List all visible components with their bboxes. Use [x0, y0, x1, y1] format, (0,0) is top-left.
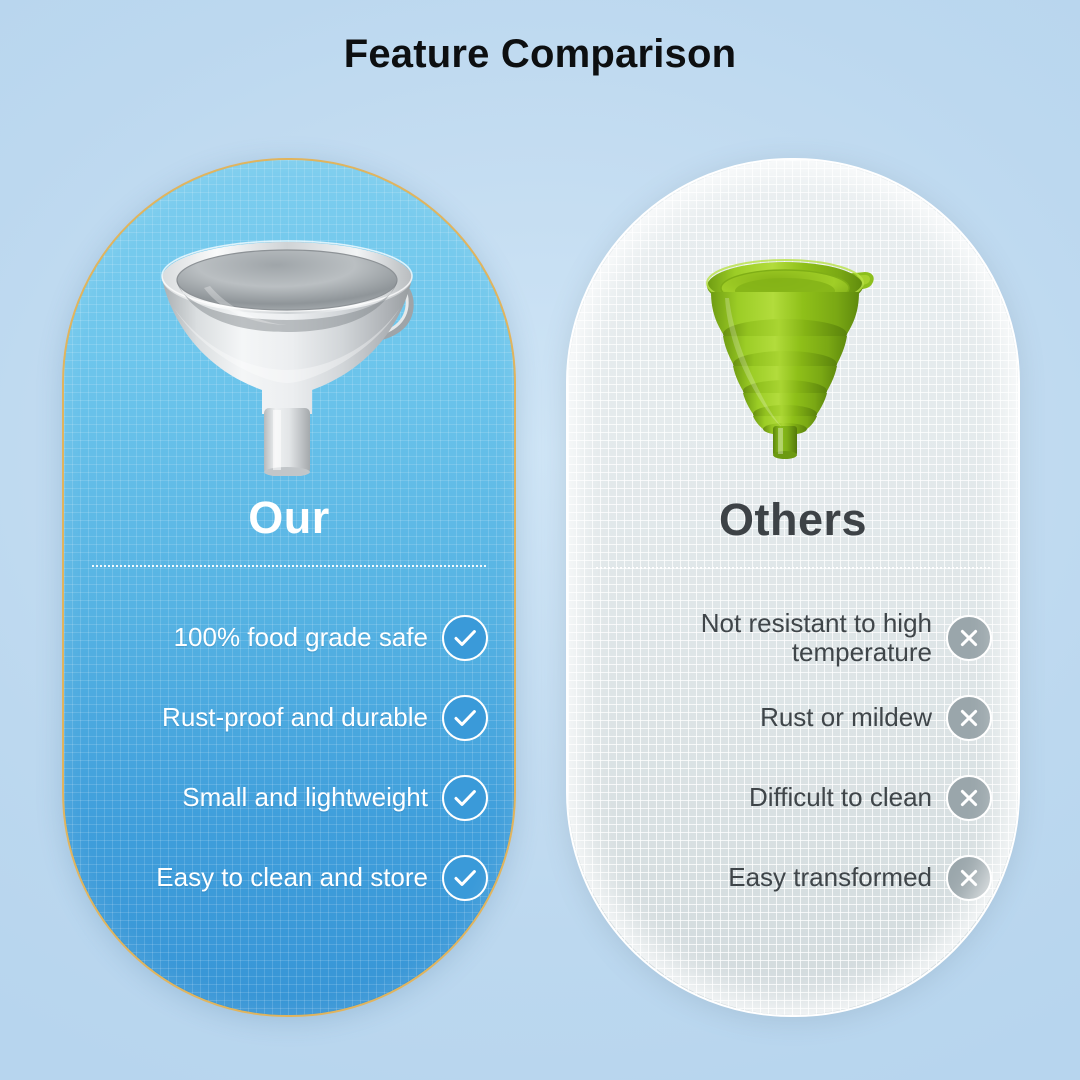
feature-row: Rust-proof and durable: [86, 678, 488, 758]
product-image-our: [64, 160, 514, 490]
cross-icon: [946, 615, 992, 661]
product-image-others: [568, 160, 1018, 490]
panel-heading-our: Our: [64, 492, 514, 544]
divider-others: [596, 567, 990, 569]
divider-our: [92, 565, 486, 567]
feature-label: Rust or mildew: [760, 703, 932, 732]
feature-label: Difficult to clean: [749, 783, 932, 812]
check-icon: [442, 615, 488, 661]
feature-label: Not resistant to high temperature: [590, 609, 932, 667]
comparison-panel-others: Others Not resistant to high temperature…: [566, 158, 1020, 1017]
feature-label: Small and lightweight: [182, 783, 428, 812]
feature-row: Easy transformed: [590, 838, 992, 918]
comparison-panel-our: Our 100% food grade safe Rust-proof and …: [62, 158, 516, 1017]
stainless-steel-funnel-icon: [144, 238, 434, 476]
feature-row: Not resistant to high temperature: [590, 598, 992, 678]
feature-label: Rust-proof and durable: [162, 703, 428, 732]
feature-label: Easy transformed: [728, 863, 932, 892]
feature-label: Easy to clean and store: [156, 863, 428, 892]
cross-icon: [946, 775, 992, 821]
feature-row: Small and lightweight: [86, 758, 488, 838]
cross-icon: [946, 695, 992, 741]
green-collapsible-silicone-funnel-icon: [693, 248, 893, 460]
feature-row: Difficult to clean: [590, 758, 992, 838]
feature-list-others: Not resistant to high temperature Rust o…: [590, 598, 992, 918]
page-title: Feature Comparison: [0, 32, 1080, 77]
panel-heading-others: Others: [568, 494, 1018, 546]
cross-icon: [946, 855, 992, 901]
feature-row: 100% food grade safe: [86, 598, 488, 678]
feature-row: Easy to clean and store: [86, 838, 488, 918]
check-icon: [442, 695, 488, 741]
check-icon: [442, 855, 488, 901]
feature-list-our: 100% food grade safe Rust-proof and dura…: [86, 598, 488, 918]
feature-row: Rust or mildew: [590, 678, 992, 758]
feature-label: 100% food grade safe: [174, 623, 428, 652]
check-icon: [442, 775, 488, 821]
